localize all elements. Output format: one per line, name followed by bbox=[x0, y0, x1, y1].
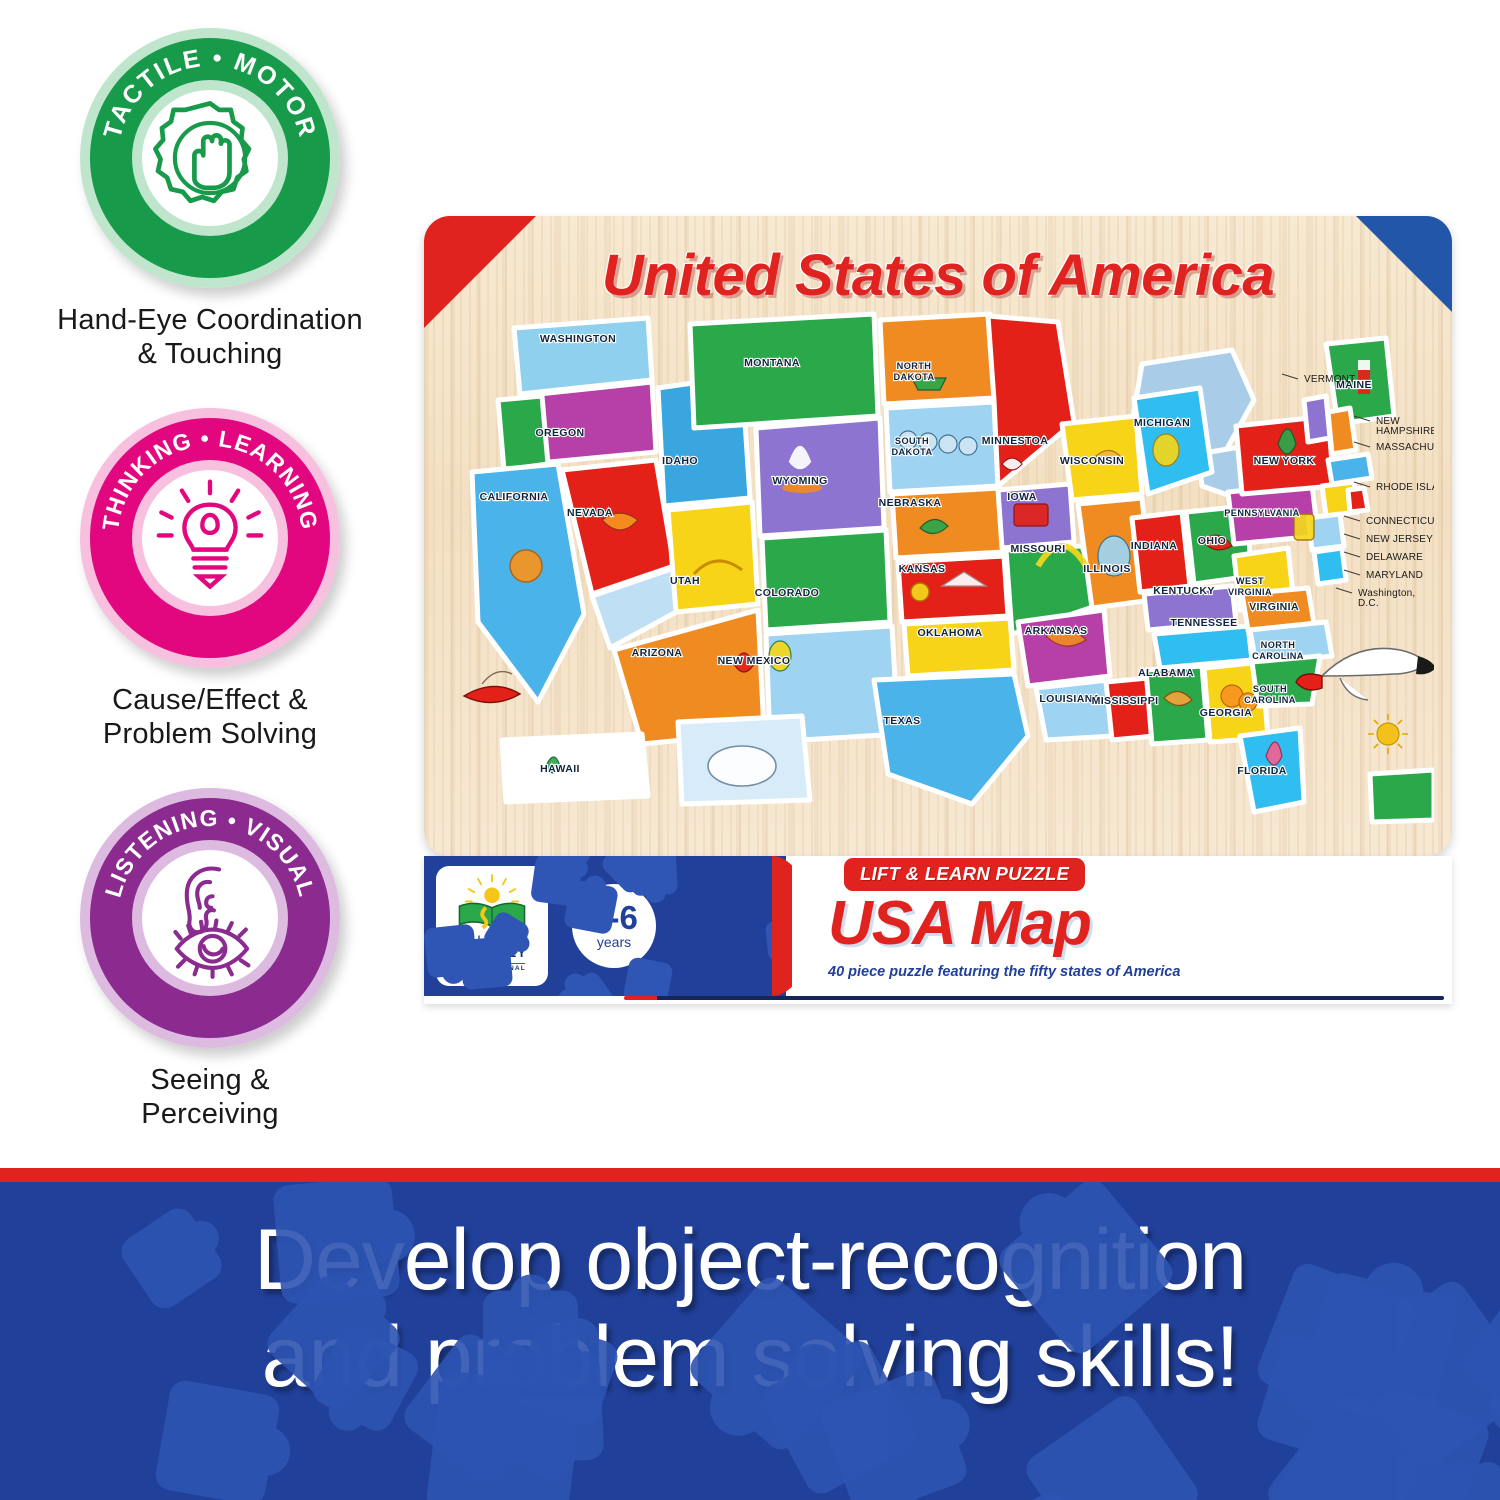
map-callout-label: Washington,D.C. bbox=[1358, 588, 1415, 609]
badge-tactile-motor: TACTILE • MOTOR Hand-Eye Coordination & … bbox=[0, 28, 420, 371]
map-state-label: KENTUCKY bbox=[1153, 585, 1215, 597]
map-state-label: MINNESTOA bbox=[982, 435, 1048, 447]
map-state-label: MONTANA bbox=[744, 357, 800, 369]
badge-thinking-learning: THINKING • LEARNING Cause/Effect & Probl… bbox=[0, 408, 420, 751]
map-callout-leader bbox=[1282, 374, 1298, 379]
usa-map-illustration: WASHINGTONOREGONCALIFORNIANEVADAIDAHOMON… bbox=[442, 304, 1434, 844]
map-callout-label: MARYLAND bbox=[1366, 570, 1423, 581]
footer-bottom-rule bbox=[624, 996, 1444, 1000]
map-state-label: WYOMING bbox=[772, 475, 827, 487]
map-callout-label: VERMONT bbox=[1304, 374, 1355, 385]
product-name: USA Map bbox=[828, 888, 1091, 959]
badge-caption-line1: Hand-Eye Coordination bbox=[0, 304, 420, 338]
map-state-label: NEW YORK bbox=[1254, 455, 1315, 467]
badge-caption-line1: Cause/Effect & bbox=[0, 684, 420, 718]
map-callout-leader bbox=[1344, 552, 1360, 557]
badge-caption-tactile-motor: Hand-Eye Coordination & Touching bbox=[0, 304, 420, 371]
map-state-label: ARKANSAS bbox=[1025, 625, 1088, 637]
hand-in-gear-icon bbox=[145, 93, 275, 223]
map-state-label: MISSISSIPPI bbox=[1092, 695, 1159, 707]
sun-icon bbox=[1368, 714, 1408, 754]
lightbulb-icon bbox=[146, 474, 274, 602]
map-state-label: WASHINGTON bbox=[540, 333, 616, 345]
map-state-label: NEBRASKA bbox=[879, 497, 942, 509]
footer-blue-panel: THE LEARNING JOURNEY INTERNATIONAL 3-6 y… bbox=[424, 856, 786, 996]
badge-caption-line2: Perceiving bbox=[0, 1098, 420, 1132]
map-state-label: PENNSYLVANIA bbox=[1224, 508, 1299, 518]
map-state-label: OHIO bbox=[1198, 535, 1226, 547]
map-state-label: UTAH bbox=[670, 575, 700, 587]
usa-map-svg: WASHINGTONOREGONCALIFORNIANEVADAIDAHOMON… bbox=[442, 304, 1434, 844]
map-state-label: VIRGINIA bbox=[1249, 601, 1299, 613]
map-callout-leader bbox=[1336, 588, 1352, 593]
map-state-label: COLORADO bbox=[755, 587, 819, 599]
badge-caption-line2: & Touching bbox=[0, 338, 420, 372]
map-callout-leader bbox=[1344, 516, 1360, 521]
badge-caption-line1: Seeing & bbox=[0, 1064, 420, 1098]
ribbon-label: LIFT & LEARN PUZZLE bbox=[860, 863, 1069, 884]
map-state-label: WISCONSIN bbox=[1060, 455, 1124, 467]
map-state-label: TEXAS bbox=[883, 715, 920, 727]
map-callout-leader bbox=[1344, 534, 1360, 539]
map-callout-label: CONNECTICUT bbox=[1366, 516, 1434, 527]
map-callout-label: NEW JERSEY bbox=[1366, 534, 1433, 545]
map-state-label: GEORGIA bbox=[1200, 707, 1252, 719]
map-state-label: IDAHO bbox=[662, 455, 698, 467]
map-callout-label: DELAWARE bbox=[1366, 552, 1423, 563]
map-callout-label: NEWHAMPSHIRE bbox=[1376, 416, 1434, 437]
map-state-label: SOUTHDAKOTA bbox=[891, 436, 932, 457]
badge-caption-listening-visual: Seeing & Perceiving bbox=[0, 1064, 420, 1131]
map-callout-label: RHODE ISLAND bbox=[1376, 482, 1434, 493]
map-state-label: MISSOURI bbox=[1010, 543, 1065, 555]
map-state-label: HAWAII bbox=[540, 763, 580, 775]
product-tagline: 40 piece puzzle featuring the fifty stat… bbox=[828, 964, 1180, 980]
map-state-label: TENNESSEE bbox=[1170, 617, 1237, 629]
banner-red-stripe bbox=[0, 1168, 1500, 1182]
map-callout-label: MASSACHUSETTS bbox=[1376, 442, 1434, 453]
puzzle-piece-watermark bbox=[622, 957, 674, 996]
badge-caption-thinking-learning: Cause/Effect & Problem Solving bbox=[0, 684, 420, 751]
puzzle-piece-watermark bbox=[554, 968, 622, 996]
lift-and-learn-ribbon: LIFT & LEARN PUZZLE bbox=[844, 858, 1085, 891]
map-state-label: FLORIDA bbox=[1237, 765, 1286, 777]
map-state-label: MICHIGAN bbox=[1134, 417, 1190, 429]
map-state-label: CALIFORNIA bbox=[480, 491, 549, 503]
map-state-label: ARIZONA bbox=[632, 647, 683, 659]
promo-banner: Develop object-recognition and problem s… bbox=[0, 1182, 1500, 1500]
map-state-label: ALABAMA bbox=[1138, 667, 1194, 679]
benefit-badge-column: TACTILE • MOTOR Hand-Eye Coordination & … bbox=[0, 0, 420, 1160]
puzzle-piece-watermark bbox=[153, 1378, 281, 1500]
map-state-label: NEW MEXICO bbox=[718, 655, 791, 667]
badge-ring-tactile-motor: TACTILE • MOTOR bbox=[80, 28, 340, 288]
footer-white-panel: LIFT & LEARN PUZZLE USA Map 40 piece puz… bbox=[792, 856, 1452, 996]
badge-listening-visual: LISTENING • VISUAL Seeing & Pe bbox=[0, 788, 420, 1131]
map-state-label: NORTHDAKOTA bbox=[893, 361, 934, 382]
map-state-label: NEVADA bbox=[567, 507, 613, 519]
product-box: United States of America bbox=[424, 216, 1452, 1004]
ear-and-eye-icon bbox=[146, 854, 274, 982]
map-state-label: KANSAS bbox=[899, 563, 946, 575]
map-state-label: INDIANA bbox=[1131, 540, 1178, 552]
map-state-tiles bbox=[472, 314, 1434, 822]
map-state-label: IOWA bbox=[1007, 491, 1037, 503]
badge-caption-line2: Problem Solving bbox=[0, 718, 420, 752]
wooden-puzzle-board: United States of America bbox=[424, 216, 1452, 856]
badge-ring-thinking-learning: THINKING • LEARNING bbox=[80, 408, 340, 668]
box-footer: THE LEARNING JOURNEY INTERNATIONAL 3-6 y… bbox=[424, 856, 1452, 1004]
badge-ring-listening-visual: LISTENING • VISUAL bbox=[80, 788, 340, 1048]
age-range-unit: years bbox=[597, 934, 631, 950]
map-title: United States of America bbox=[424, 242, 1452, 309]
map-state-label: OREGON bbox=[535, 427, 584, 439]
map-state-label: ILLINOIS bbox=[1083, 563, 1131, 575]
map-state-label: OKLAHOMA bbox=[917, 627, 982, 639]
product-marketing-image: TACTILE • MOTOR Hand-Eye Coordination & … bbox=[0, 0, 1500, 1500]
